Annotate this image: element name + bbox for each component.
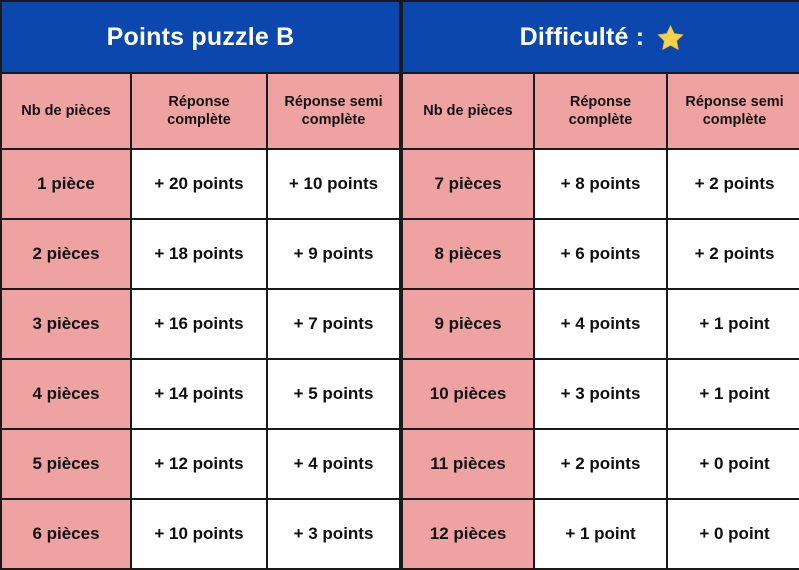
cell-pieces: 9 pièces [402, 289, 534, 359]
cell-complete: + 6 points [534, 219, 667, 289]
cell-semi: + 0 point [667, 429, 799, 499]
cell-semi: + 0 point [667, 499, 799, 569]
header-line-2: complète [703, 112, 767, 128]
puzzle-points-tables: Points puzzle B Nb de pièces Réponse com… [0, 0, 799, 570]
cell-complete: + 10 points [131, 499, 267, 569]
table-left-title-row: Points puzzle B [1, 1, 400, 73]
header-line-1: Réponse [570, 94, 631, 110]
table-left-title: Points puzzle B [1, 1, 400, 73]
header-line-2: complète [167, 112, 231, 128]
header-line-1: Nb de pièces [423, 103, 512, 119]
cell-semi: + 1 point [667, 289, 799, 359]
cell-semi: + 5 points [267, 359, 400, 429]
table-row: 4 pièces + 14 points + 5 points [1, 359, 400, 429]
header-line-1: Réponse semi [284, 94, 382, 110]
header-line-2: complète [569, 112, 633, 128]
tables-container: Points puzzle B Nb de pièces Réponse com… [0, 0, 799, 565]
cell-pieces: 12 pièces [402, 499, 534, 569]
table-row: 3 pièces + 16 points + 7 points [1, 289, 400, 359]
cell-complete: + 12 points [131, 429, 267, 499]
cell-semi: + 9 points [267, 219, 400, 289]
cell-complete: + 1 point [534, 499, 667, 569]
header-line-2: complète [302, 112, 366, 128]
cell-pieces: 5 pièces [1, 429, 131, 499]
cell-complete: + 16 points [131, 289, 267, 359]
table-row: 6 pièces + 10 points + 3 points [1, 499, 400, 569]
cell-complete: + 3 points [534, 359, 667, 429]
cell-pieces: 3 pièces [1, 289, 131, 359]
cell-pieces: 6 pièces [1, 499, 131, 569]
cell-pieces: 10 pièces [402, 359, 534, 429]
cell-semi: + 10 points [267, 149, 400, 219]
difficulty-title: Difficulté : [402, 1, 799, 73]
table-row: 8 pièces + 6 points + 2 points [402, 219, 799, 289]
table-right-title-row: Difficulté : [402, 1, 799, 73]
cell-pieces: 11 pièces [402, 429, 534, 499]
cell-complete: + 2 points [534, 429, 667, 499]
cell-semi: + 2 points [667, 149, 799, 219]
table-left-header-complete: Réponse complète [131, 73, 267, 149]
table-right-header-row: Nb de pièces Réponse complète Réponse se… [402, 73, 799, 149]
cell-semi: + 2 points [667, 219, 799, 289]
cell-complete: + 4 points [534, 289, 667, 359]
table-row: 9 pièces + 4 points + 1 point [402, 289, 799, 359]
cell-complete: + 8 points [534, 149, 667, 219]
table-left-title-text: Points puzzle B [107, 23, 295, 52]
header-line-1: Réponse [168, 94, 229, 110]
cell-complete: + 20 points [131, 149, 267, 219]
table-row: 2 pièces + 18 points + 9 points [1, 219, 400, 289]
cell-pieces: 8 pièces [402, 219, 534, 289]
table-right-header-semi-complete: Réponse semi complète [667, 73, 799, 149]
cell-semi: + 7 points [267, 289, 400, 359]
table-right-header-pieces: Nb de pièces [402, 73, 534, 149]
table-left-header-pieces: Nb de pièces [1, 73, 131, 149]
cell-semi: + 3 points [267, 499, 400, 569]
table-row: 11 pièces + 2 points + 0 point [402, 429, 799, 499]
cell-pieces: 7 pièces [402, 149, 534, 219]
star-icon [657, 24, 684, 51]
table-row: 7 pièces + 8 points + 2 points [402, 149, 799, 219]
table-row: 5 pièces + 12 points + 4 points [1, 429, 400, 499]
cell-semi: + 1 point [667, 359, 799, 429]
header-line-1: Réponse semi [685, 94, 783, 110]
cell-pieces: 2 pièces [1, 219, 131, 289]
cell-semi: + 4 points [267, 429, 400, 499]
table-row: 1 pièce + 20 points + 10 points [1, 149, 400, 219]
table-left-header-row: Nb de pièces Réponse complète Réponse se… [1, 73, 400, 149]
cell-complete: + 14 points [131, 359, 267, 429]
cell-pieces: 4 pièces [1, 359, 131, 429]
difficulty-title-text: Difficulté : [520, 23, 645, 52]
points-table-left: Points puzzle B Nb de pièces Réponse com… [0, 0, 401, 570]
table-row: 10 pièces + 3 points + 1 point [402, 359, 799, 429]
table-left-header-semi-complete: Réponse semi complète [267, 73, 400, 149]
table-right-header-complete: Réponse complète [534, 73, 667, 149]
cell-complete: + 18 points [131, 219, 267, 289]
points-table-right: Difficulté : Nb de pièces Réponse [401, 0, 799, 570]
header-line-1: Nb de pièces [21, 103, 110, 119]
table-row: 12 pièces + 1 point + 0 point [402, 499, 799, 569]
cell-pieces: 1 pièce [1, 149, 131, 219]
